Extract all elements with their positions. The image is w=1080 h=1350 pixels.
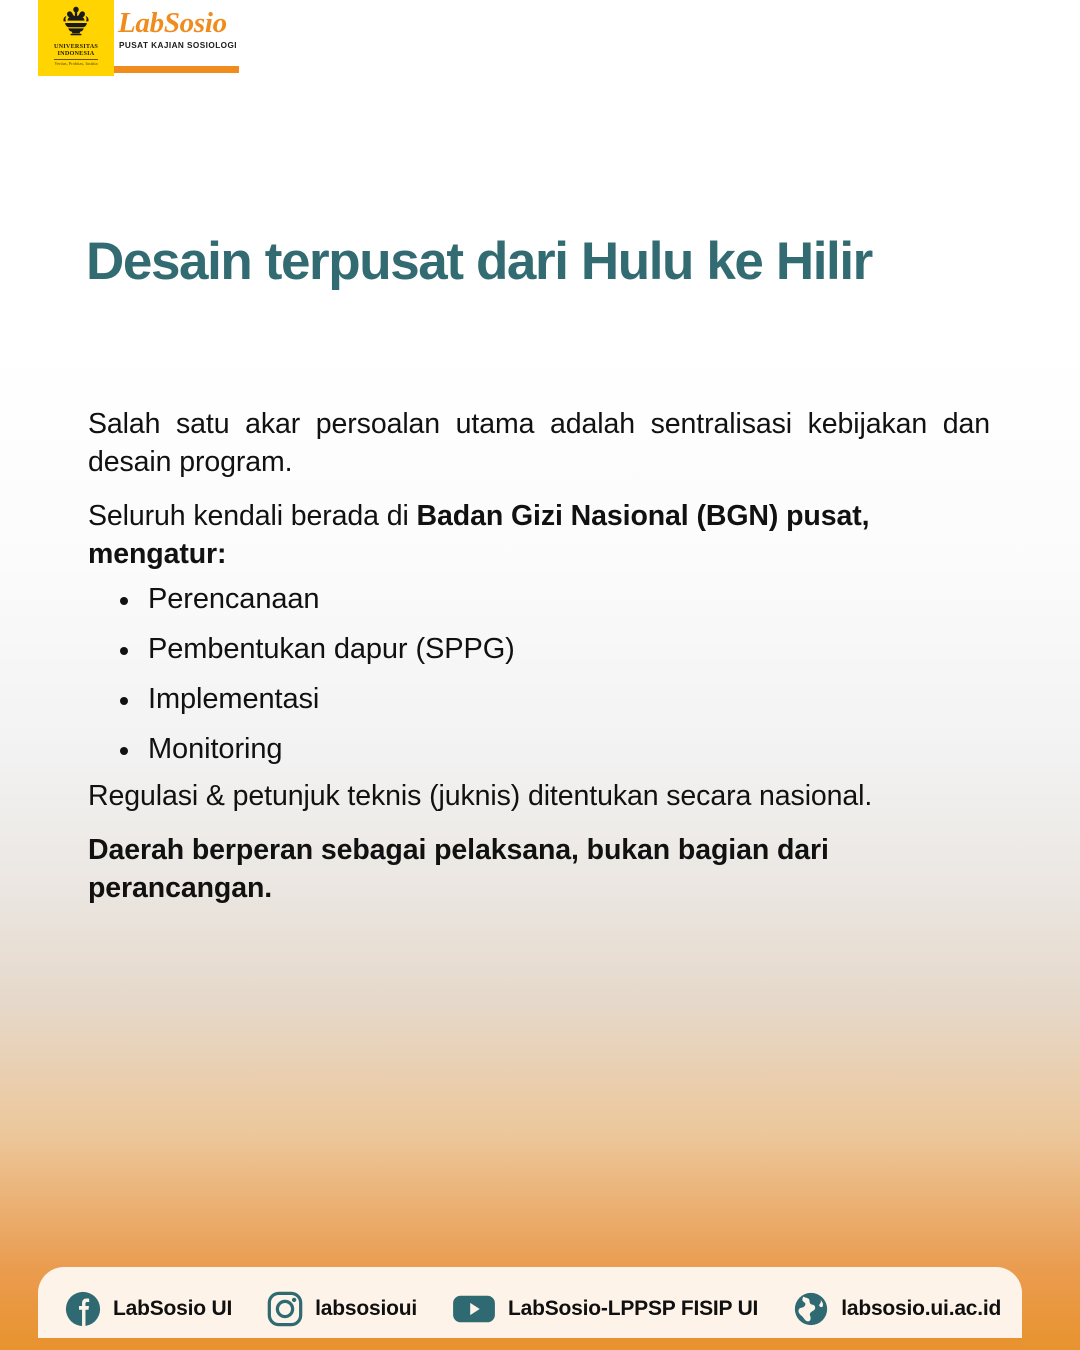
universitas-indonesia-makara-icon — [56, 6, 96, 43]
labsosio-logo-lockup: UNIVERSITAS INDONESIA Veritas, Probitas,… — [38, 0, 243, 76]
footer-label-website: labsosio.ui.ac.id — [841, 1297, 1001, 1321]
footer-label-instagram: labsosioui — [315, 1297, 417, 1321]
list-item: Pembentukan dapur (SPPG) — [88, 627, 990, 671]
instagram-icon — [266, 1290, 304, 1328]
bgn-control-list: Perencanaan Pembentukan dapur (SPPG) Imp… — [88, 577, 990, 771]
labsosio-tagline: PUSAT KAJIAN SOSIOLOGI — [119, 41, 237, 50]
list-item: Perencanaan — [88, 577, 990, 621]
list-item: Implementasi — [88, 677, 990, 721]
globe-icon — [792, 1290, 830, 1328]
paragraph-kendali-lead: Seluruh kendali berada di — [88, 500, 417, 532]
ui-logo-block: UNIVERSITAS INDONESIA Veritas, Probitas,… — [38, 0, 114, 76]
list-item: Monitoring — [88, 727, 990, 771]
body-content: Salah satu akar persoalan utama adalah s… — [88, 405, 990, 923]
poster-canvas: UNIVERSITAS INDONESIA Veritas, Probitas,… — [0, 0, 1080, 1350]
labsosio-wordmark: LabSosio — [118, 8, 227, 38]
youtube-icon — [451, 1290, 497, 1328]
paragraph-intro: Salah satu akar persoalan utama adalah s… — [88, 405, 990, 481]
footer-label-facebook: LabSosio UI — [113, 1297, 232, 1321]
footer-label-youtube: LabSosio-LPPSP FISIP UI — [508, 1297, 758, 1321]
footer-item-facebook[interactable]: LabSosio UI — [64, 1290, 232, 1328]
footer-item-instagram[interactable]: labsosioui — [266, 1290, 417, 1328]
footer-item-website[interactable]: labsosio.ui.ac.id — [792, 1290, 1001, 1328]
paragraph-daerah: Daerah berperan sebagai pelaksana, bukan… — [88, 831, 990, 907]
ui-university-name: UNIVERSITAS INDONESIA — [54, 44, 98, 57]
footer-accent-strip — [38, 1338, 1022, 1350]
facebook-icon — [64, 1290, 102, 1328]
logo-accent-bar — [114, 66, 239, 73]
ui-motto: Veritas, Probitas, Iustitia — [54, 59, 98, 66]
footer-item-youtube[interactable]: LabSosio-LPPSP FISIP UI — [451, 1290, 758, 1328]
page-title: Desain terpusat dari Hulu ke Hilir — [86, 232, 1006, 292]
paragraph-regulasi: Regulasi & petunjuk teknis (juknis) dite… — [88, 777, 990, 815]
labsosio-wordmark-block: LabSosio PUSAT KAJIAN SOSIOLOGI — [114, 0, 243, 76]
paragraph-kendali: Seluruh kendali berada di Badan Gizi Nas… — [88, 497, 990, 573]
